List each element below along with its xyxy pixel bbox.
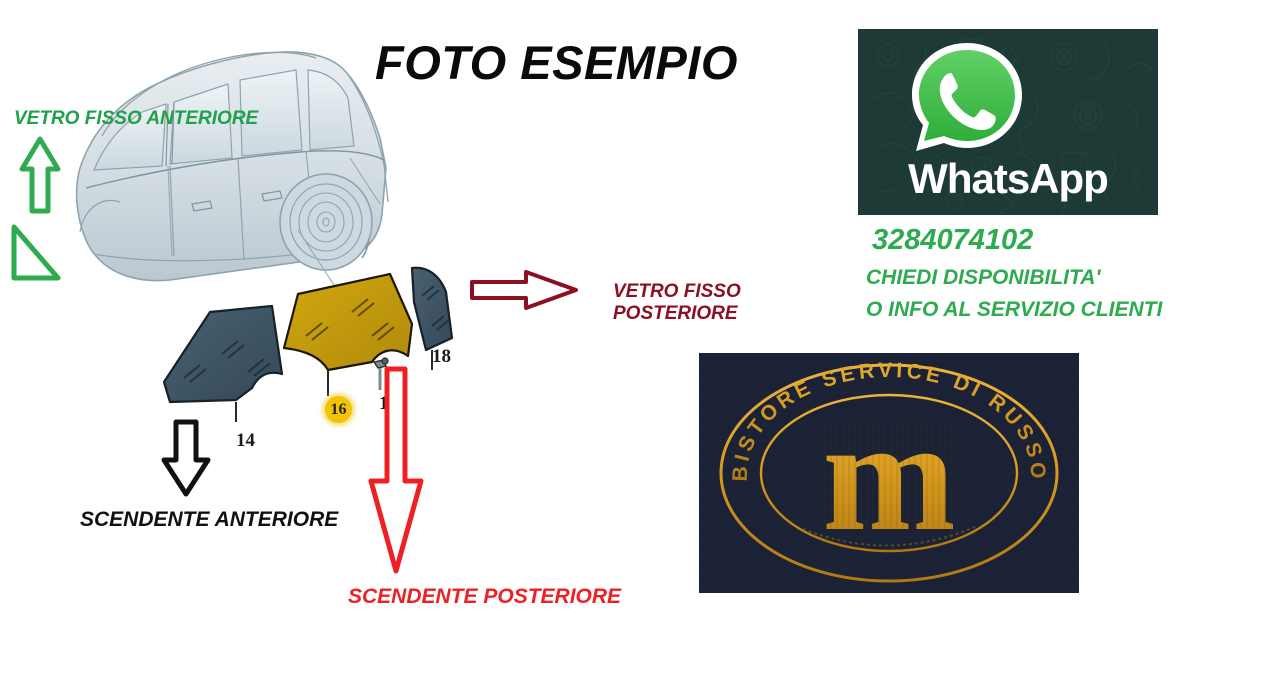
label-scendente-anteriore: SCENDENTE ANTERIORE (80, 508, 338, 533)
whatsapp-wordmark: WhatsApp (858, 155, 1158, 203)
whatsapp-phone-number[interactable]: 3284074102 (872, 224, 1033, 257)
triangle-green-icon (8, 222, 64, 289)
availability-text-line-1: CHIEDI DISPONIBILITA' (866, 266, 1100, 290)
exploded-glass-parts (140, 250, 500, 440)
page-title: FOTO ESEMPIO (375, 35, 738, 90)
logo-monogram: m (822, 386, 955, 564)
svg-text:m: m (822, 386, 955, 564)
arrow-right-darkred-icon (468, 268, 580, 317)
label-scendente-posteriore: SCENDENTE POSTERIORE (348, 585, 621, 610)
part-16-shape (284, 274, 412, 370)
company-logo-photo: MRICAMBISTORE SERVICE DI RUSSO MARCO m (699, 353, 1079, 593)
part-number-16-badge: 16 (325, 396, 352, 423)
label-vetro-fisso-anteriore: VETRO FISSO ANTERIORE (14, 108, 258, 130)
part-number-18: 18 (432, 346, 451, 368)
part-number-14: 14 (236, 430, 255, 452)
label-line-2: POSTERIORE (613, 303, 741, 325)
arrow-down-red-icon (365, 365, 427, 582)
availability-text-line-2: O INFO AL SERVIZIO CLIENTI (866, 298, 1162, 322)
whatsapp-logo-icon (906, 37, 1028, 164)
label-line-1: VETRO FISSO (613, 281, 741, 303)
part-18-shape (412, 268, 452, 350)
whatsapp-banner[interactable]: WhatsApp (858, 29, 1158, 215)
label-vetro-fisso-posteriore: VETRO FISSO POSTERIORE (613, 281, 741, 326)
arrow-down-black-icon (158, 418, 214, 503)
part-14-shape (164, 306, 282, 402)
arrow-up-green-icon (18, 135, 62, 220)
screenshot-canvas: 14 16 17 18 FOTO ESEMPIO VETRO FISSO ANT… (0, 0, 1264, 678)
